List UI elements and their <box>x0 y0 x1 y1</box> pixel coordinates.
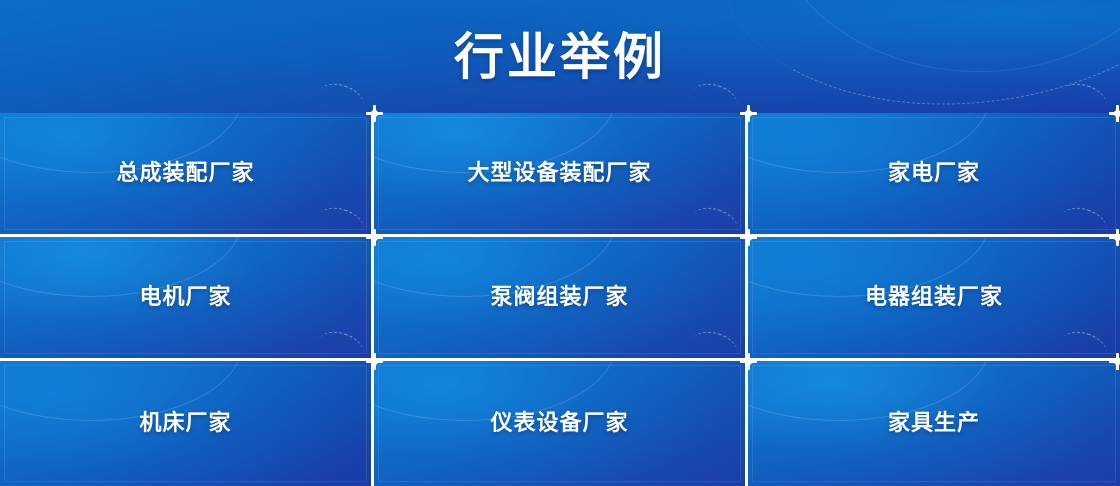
industry-examples-board: 行业举例 总成装配厂家 大型设备装配厂家 家电厂家 电机厂家 <box>0 0 1120 486</box>
cell-label: 大型设备装配厂家 <box>467 163 651 185</box>
cell-label: 家具生产 <box>888 413 980 435</box>
cell-label: 电机厂家 <box>139 287 231 309</box>
grid-cell[interactable]: 家具生产 <box>748 361 1120 486</box>
grid-cell[interactable]: 家电厂家 <box>748 113 1120 237</box>
grid-cell[interactable]: 仪表设备厂家 <box>374 361 748 486</box>
header-banner: 行业举例 <box>0 0 1120 113</box>
grid-cell[interactable]: 电机厂家 <box>0 237 374 361</box>
grid-cell[interactable]: 机床厂家 <box>0 361 374 486</box>
grid-cell[interactable]: 大型设备装配厂家 <box>374 113 748 237</box>
page-title: 行业举例 <box>0 0 1120 113</box>
cell-label: 泵阀组装厂家 <box>490 287 628 309</box>
grid-cell[interactable]: 电器组装厂家 <box>748 237 1120 361</box>
grid-cell[interactable]: 总成装配厂家 <box>0 113 374 237</box>
cell-label: 电器组装厂家 <box>865 287 1003 309</box>
cell-label: 总成装配厂家 <box>116 163 254 185</box>
industry-grid: 总成装配厂家 大型设备装配厂家 家电厂家 电机厂家 泵阀组装厂家 <box>0 113 1120 486</box>
cell-label: 机床厂家 <box>139 413 231 435</box>
grid-cell[interactable]: 泵阀组装厂家 <box>374 237 748 361</box>
cell-label: 仪表设备厂家 <box>490 413 628 435</box>
cell-label: 家电厂家 <box>888 163 980 185</box>
